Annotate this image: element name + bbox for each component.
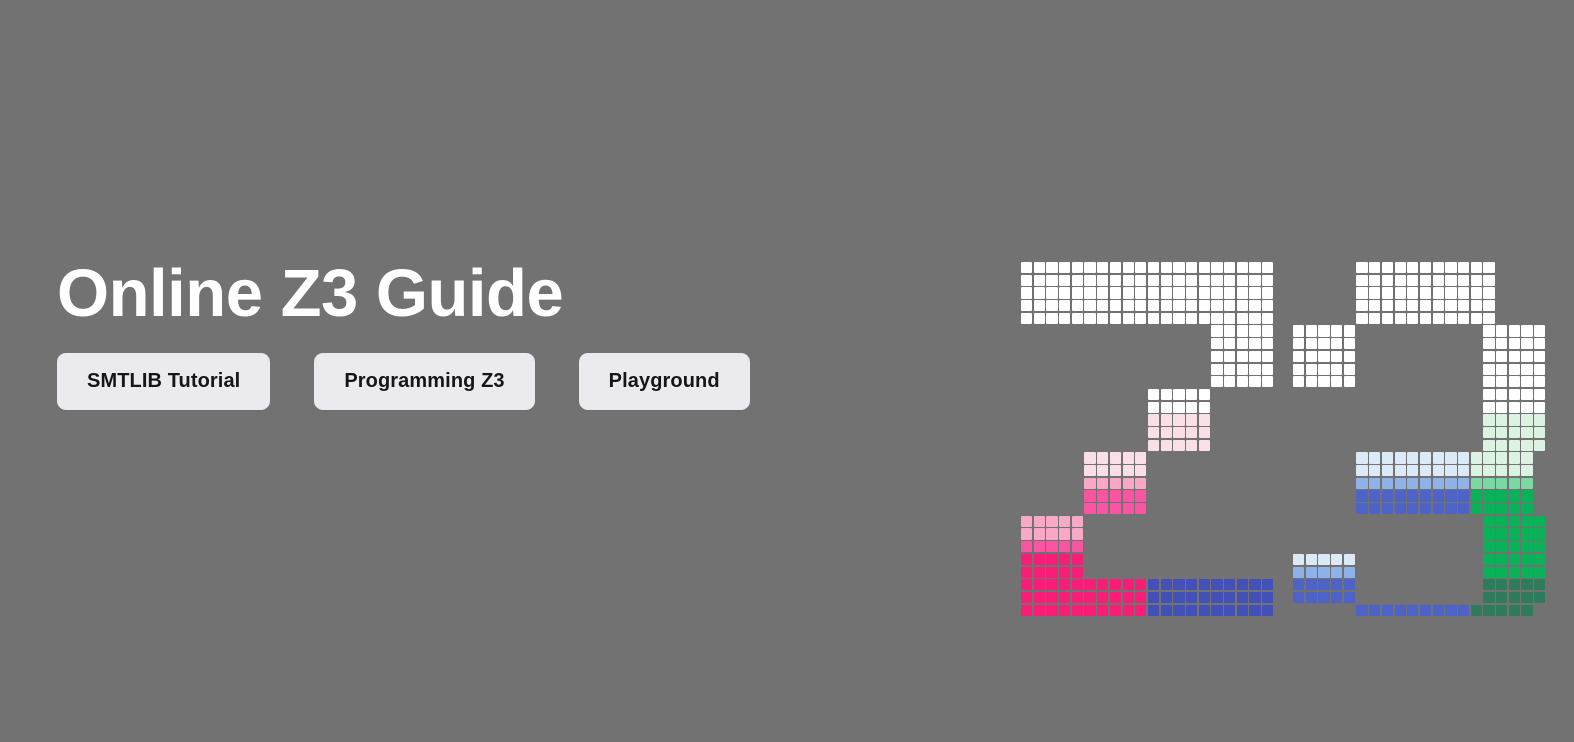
logo-pixel — [1072, 490, 1083, 501]
logo-pixel — [1262, 452, 1273, 463]
logo-pixel — [1496, 592, 1507, 603]
logo-pixel — [1306, 389, 1317, 400]
logo-pixel — [1433, 516, 1444, 527]
logo-pixel — [1224, 516, 1235, 527]
logo-pixel — [1534, 300, 1545, 311]
logo-pixel — [1237, 516, 1248, 527]
logo-pixel — [1344, 503, 1355, 514]
logo-pixel — [1237, 490, 1248, 501]
logo-pixel — [1237, 567, 1248, 578]
logo-pixel — [1407, 541, 1418, 552]
logo-pixel — [1420, 579, 1431, 590]
logo-pixel — [1509, 300, 1520, 311]
logo-pixel — [1306, 516, 1317, 527]
logo-pixel — [1344, 490, 1355, 501]
logo-pixel — [1161, 490, 1172, 501]
logo-pixel — [1483, 325, 1494, 336]
logo-pixel — [1445, 567, 1456, 578]
logo-pixel — [1509, 325, 1520, 336]
logo-pixel — [1407, 364, 1418, 375]
logo-pixel — [1084, 427, 1095, 438]
logo-pixel — [1097, 579, 1108, 590]
logo-pixel — [1224, 275, 1235, 286]
logo-pixel — [1458, 541, 1469, 552]
logo-pixel — [1395, 528, 1406, 539]
logo-pixel — [1034, 478, 1045, 489]
logo-pixel — [1097, 567, 1108, 578]
logo-pixel — [1211, 516, 1222, 527]
logo-pixel — [1199, 503, 1210, 514]
logo-pixel — [1369, 364, 1380, 375]
logo-pixel — [1161, 313, 1172, 324]
logo-pixel — [1161, 579, 1172, 590]
logo-pixel — [1521, 364, 1532, 375]
logo-pixel — [1318, 478, 1329, 489]
logo-pixel — [1521, 275, 1532, 286]
logo-pixel — [1293, 528, 1304, 539]
logo-pixel — [1211, 567, 1222, 578]
logo-pixel — [1344, 567, 1355, 578]
logo-pixel — [1084, 452, 1095, 463]
logo-pixel — [1123, 402, 1134, 413]
logo-pixel — [1369, 452, 1380, 463]
logo-pixel — [1224, 503, 1235, 514]
logo-pixel — [1306, 351, 1317, 362]
logo-pixel — [1496, 503, 1507, 514]
logo-pixel — [1509, 516, 1520, 527]
logo-pixel — [1382, 414, 1393, 425]
logo-pixel — [1034, 427, 1045, 438]
logo-pixel — [1199, 414, 1210, 425]
logo-pixel — [1034, 516, 1045, 527]
logo-pixel — [1369, 490, 1380, 501]
logo-pixel — [1211, 579, 1222, 590]
logo-pixel — [1173, 338, 1184, 349]
logo-pixel — [1445, 503, 1456, 514]
logo-pixel — [1237, 414, 1248, 425]
logo-pixel — [1097, 452, 1108, 463]
logo-pixel — [1509, 440, 1520, 451]
logo-pixel — [1084, 389, 1095, 400]
logo-pixel — [1034, 503, 1045, 514]
z3-pixel-logo — [1021, 262, 1521, 582]
logo-pixel — [1059, 313, 1070, 324]
logo-pixel — [1433, 325, 1444, 336]
logo-pixel — [1059, 351, 1070, 362]
logo-pixel — [1059, 338, 1070, 349]
logo-pixel — [1433, 452, 1444, 463]
logo-pixel — [1161, 414, 1172, 425]
logo-pixel — [1135, 579, 1146, 590]
playground-button[interactable]: Playground — [579, 353, 750, 410]
logo-pixel — [1395, 452, 1406, 463]
logo-pixel — [1331, 490, 1342, 501]
logo-pixel — [1458, 579, 1469, 590]
logo-pixel — [1382, 427, 1393, 438]
logo-pixel — [1173, 262, 1184, 273]
logo-pixel — [1420, 541, 1431, 552]
logo-pixel — [1059, 287, 1070, 298]
logo-pixel — [1382, 579, 1393, 590]
logo-pixel — [1420, 262, 1431, 273]
logo-pixel — [1135, 414, 1146, 425]
logo-pixel — [1199, 262, 1210, 273]
logo-pixel — [1123, 414, 1134, 425]
logo-pixel — [1262, 287, 1273, 298]
logo-pixel — [1407, 605, 1418, 616]
logo-pixel — [1433, 338, 1444, 349]
logo-pixel — [1097, 262, 1108, 273]
logo-pixel — [1458, 605, 1469, 616]
logo-pixel — [1534, 592, 1545, 603]
logo-pixel — [1072, 541, 1083, 552]
logo-pixel — [1262, 478, 1273, 489]
logo-pixel — [1186, 592, 1197, 603]
logo-pixel — [1110, 427, 1121, 438]
logo-pixel — [1395, 351, 1406, 362]
logo-pixel — [1496, 300, 1507, 311]
logo-pixel — [1021, 389, 1032, 400]
logo-pixel — [1046, 503, 1057, 514]
logo-pixel — [1344, 376, 1355, 387]
logo-pixel — [1407, 389, 1418, 400]
logo-pixel — [1224, 389, 1235, 400]
logo-pixel — [1433, 503, 1444, 514]
logo-pixel — [1237, 541, 1248, 552]
logo-pixel — [1534, 262, 1545, 273]
logo-pixel — [1211, 465, 1222, 476]
logo-pixel — [1318, 402, 1329, 413]
logo-pixel — [1072, 503, 1083, 514]
logo-pixel — [1382, 490, 1393, 501]
logo-pixel — [1110, 313, 1121, 324]
logo-pixel — [1135, 300, 1146, 311]
logo-pixel — [1224, 427, 1235, 438]
logo-pixel — [1509, 490, 1520, 501]
logo-pixel — [1521, 452, 1532, 463]
logo-pixel — [1262, 275, 1273, 286]
logo-pixel — [1318, 414, 1329, 425]
logo-pixel — [1445, 528, 1456, 539]
logo-pixel — [1161, 452, 1172, 463]
logo-pixel — [1356, 440, 1367, 451]
logo-pixel — [1521, 541, 1532, 552]
logo-pixel — [1021, 503, 1032, 514]
logo-pixel — [1293, 503, 1304, 514]
logo-pixel — [1521, 554, 1532, 565]
logo-pixel — [1420, 275, 1431, 286]
logo-pixel — [1148, 567, 1159, 578]
logo-pixel — [1173, 275, 1184, 286]
logo-pixel — [1135, 592, 1146, 603]
logo-pixel — [1458, 338, 1469, 349]
smtlib-tutorial-button[interactable]: SMTLIB Tutorial — [57, 353, 270, 410]
logo-pixel — [1148, 313, 1159, 324]
logo-pixel — [1318, 351, 1329, 362]
logo-pixel — [1445, 465, 1456, 476]
logo-pixel — [1306, 541, 1317, 552]
logo-pixel — [1249, 605, 1260, 616]
logo-pixel — [1034, 325, 1045, 336]
logo-pixel — [1521, 567, 1532, 578]
logo-pixel — [1097, 300, 1108, 311]
logo-pixel — [1318, 325, 1329, 336]
logo-pixel — [1318, 452, 1329, 463]
logo-pixel — [1521, 427, 1532, 438]
logo-pixel — [1496, 389, 1507, 400]
logo-pixel — [1395, 478, 1406, 489]
logo-pixel — [1318, 605, 1329, 616]
logo-pixel — [1034, 262, 1045, 273]
logo-pixel — [1395, 325, 1406, 336]
logo-pixel — [1249, 287, 1260, 298]
logo-pixel — [1186, 402, 1197, 413]
logo-pixel — [1407, 402, 1418, 413]
logo-pixel — [1084, 364, 1095, 375]
logo-pixel — [1059, 541, 1070, 552]
logo-pixel — [1046, 567, 1057, 578]
logo-pixel — [1249, 490, 1260, 501]
logo-pixel — [1318, 440, 1329, 451]
logo-pixel — [1306, 605, 1317, 616]
logo-pixel — [1072, 516, 1083, 527]
logo-pixel — [1471, 490, 1482, 501]
logo-pixel — [1148, 579, 1159, 590]
logo-pixel — [1331, 300, 1342, 311]
logo-pixel — [1534, 275, 1545, 286]
logo-pixel — [1059, 402, 1070, 413]
logo-pixel — [1084, 579, 1095, 590]
logo-pixel — [1249, 541, 1260, 552]
logo-pixel — [1534, 452, 1545, 463]
logo-pixel — [1369, 427, 1380, 438]
logo-pixel — [1046, 376, 1057, 387]
logo-pixel — [1072, 402, 1083, 413]
logo-pixel — [1186, 287, 1197, 298]
logo-pixel — [1097, 351, 1108, 362]
logo-pixel — [1471, 567, 1482, 578]
logo-pixel — [1224, 440, 1235, 451]
logo-pixel — [1433, 567, 1444, 578]
logo-pixel — [1199, 605, 1210, 616]
logo-pixel — [1262, 516, 1273, 527]
logo-pixel — [1072, 452, 1083, 463]
logo-pixel — [1407, 478, 1418, 489]
logo-pixel — [1471, 300, 1482, 311]
logo-pixel — [1344, 402, 1355, 413]
logo-pixel — [1059, 528, 1070, 539]
logo-pixel — [1293, 287, 1304, 298]
logo-pixel — [1420, 592, 1431, 603]
logo-pixel — [1420, 389, 1431, 400]
logo-pixel — [1237, 579, 1248, 590]
logo-pixel — [1123, 364, 1134, 375]
logo-pixel — [1420, 554, 1431, 565]
logo-pixel — [1224, 402, 1235, 413]
logo-pixel — [1521, 262, 1532, 273]
logo-pixel — [1110, 579, 1121, 590]
logo-pixel — [1059, 389, 1070, 400]
logo-pixel — [1249, 364, 1260, 375]
logo-pixel — [1356, 338, 1367, 349]
logo-pixel — [1034, 567, 1045, 578]
logo-pixel — [1046, 364, 1057, 375]
logo-pixel — [1356, 605, 1367, 616]
logo-pixel — [1059, 300, 1070, 311]
logo-pixel — [1034, 376, 1045, 387]
logo-pixel — [1445, 579, 1456, 590]
logo-pixel — [1097, 528, 1108, 539]
logo-pixel — [1021, 402, 1032, 413]
logo-pixel — [1382, 389, 1393, 400]
logo-pixel — [1211, 414, 1222, 425]
logo-pixel — [1395, 402, 1406, 413]
logo-pixel — [1445, 262, 1456, 273]
logo-pixel — [1344, 427, 1355, 438]
logo-pixel — [1135, 287, 1146, 298]
logo-pixel — [1059, 592, 1070, 603]
logo-pixel — [1471, 275, 1482, 286]
logo-pixel — [1211, 262, 1222, 273]
logo-pixel — [1471, 313, 1482, 324]
logo-pixel — [1224, 490, 1235, 501]
logo-pixel — [1521, 414, 1532, 425]
logo-pixel — [1224, 541, 1235, 552]
logo-pixel — [1445, 516, 1456, 527]
logo-pixel — [1331, 376, 1342, 387]
logo-pixel — [1433, 414, 1444, 425]
logo-pixel — [1433, 300, 1444, 311]
logo-pixel — [1369, 262, 1380, 273]
logo-pixel — [1534, 567, 1545, 578]
logo-pixel — [1344, 605, 1355, 616]
logo-pixel — [1356, 287, 1367, 298]
logo-pixel — [1034, 287, 1045, 298]
logo-pixel — [1161, 376, 1172, 387]
logo-pixel — [1433, 478, 1444, 489]
logo-pixel — [1224, 262, 1235, 273]
programming-z3-button[interactable]: Programming Z3 — [314, 353, 534, 410]
logo-pixel — [1356, 427, 1367, 438]
logo-pixel — [1534, 313, 1545, 324]
logo-pixel — [1344, 516, 1355, 527]
logo-pixel — [1356, 592, 1367, 603]
logo-pixel — [1148, 503, 1159, 514]
logo-pixel — [1382, 402, 1393, 413]
logo-pixel — [1046, 490, 1057, 501]
logo-pixel — [1344, 300, 1355, 311]
logo-pixel — [1445, 427, 1456, 438]
logo-pixel — [1382, 541, 1393, 552]
logo-pixel — [1237, 364, 1248, 375]
logo-pixel — [1420, 325, 1431, 336]
logo-pixel — [1433, 541, 1444, 552]
logo-pixel — [1262, 579, 1273, 590]
logo-pixel — [1420, 490, 1431, 501]
logo-pixel — [1161, 541, 1172, 552]
logo-pixel — [1331, 414, 1342, 425]
logo-pixel — [1471, 414, 1482, 425]
logo-pixel — [1034, 414, 1045, 425]
logo-pixel — [1509, 338, 1520, 349]
logo-pixel — [1395, 592, 1406, 603]
logo-pixel — [1123, 338, 1134, 349]
logo-pixel — [1186, 364, 1197, 375]
logo-pixel — [1110, 592, 1121, 603]
logo-pixel — [1046, 402, 1057, 413]
logo-pixel — [1173, 605, 1184, 616]
logo-pixel — [1509, 414, 1520, 425]
logo-pixel — [1021, 516, 1032, 527]
logo-pixel — [1148, 300, 1159, 311]
logo-pixel — [1123, 516, 1134, 527]
logo-pixel — [1318, 389, 1329, 400]
logo-pixel — [1097, 490, 1108, 501]
logo-pixel — [1072, 389, 1083, 400]
logo-pixel — [1534, 440, 1545, 451]
logo-pixel — [1483, 592, 1494, 603]
logo-pixel — [1199, 402, 1210, 413]
logo-pixel — [1237, 300, 1248, 311]
logo-pixel — [1046, 287, 1057, 298]
logo-pixel — [1059, 440, 1070, 451]
logo-pixel — [1521, 402, 1532, 413]
logo-pixel — [1173, 452, 1184, 463]
logo-pixel — [1224, 414, 1235, 425]
logo-pixel — [1356, 402, 1367, 413]
logo-pixel — [1097, 516, 1108, 527]
logo-pixel — [1521, 300, 1532, 311]
logo-pixel — [1420, 528, 1431, 539]
logo-pixel — [1306, 503, 1317, 514]
logo-pixel — [1199, 579, 1210, 590]
logo-pixel — [1445, 592, 1456, 603]
logo-pixel — [1110, 364, 1121, 375]
logo-pixel — [1306, 313, 1317, 324]
logo-pixel — [1161, 567, 1172, 578]
logo-pixel — [1382, 605, 1393, 616]
logo-pixel — [1123, 275, 1134, 286]
logo-pixel — [1331, 325, 1342, 336]
logo-pixel — [1135, 516, 1146, 527]
logo-pixel — [1483, 465, 1494, 476]
logo-pixel — [1123, 452, 1134, 463]
hero-button-row: SMTLIB Tutorial Programming Z3 Playgroun… — [57, 353, 977, 410]
logo-pixel — [1186, 490, 1197, 501]
logo-pixel — [1034, 313, 1045, 324]
logo-pixel — [1135, 262, 1146, 273]
logo-pixel — [1097, 287, 1108, 298]
logo-pixel — [1471, 516, 1482, 527]
logo-pixel — [1496, 402, 1507, 413]
logo-pixel — [1249, 313, 1260, 324]
logo-pixel — [1211, 490, 1222, 501]
logo-pixel — [1382, 325, 1393, 336]
logo-pixel — [1407, 414, 1418, 425]
logo-pixel — [1458, 262, 1469, 273]
logo-pixel — [1249, 516, 1260, 527]
logo-pixel — [1369, 338, 1380, 349]
logo-pixel — [1483, 287, 1494, 298]
logo-pixel — [1458, 592, 1469, 603]
logo-pixel — [1262, 605, 1273, 616]
logo-pixel — [1148, 541, 1159, 552]
logo-pixel — [1331, 389, 1342, 400]
logo-pixel — [1046, 554, 1057, 565]
logo-pixel — [1483, 605, 1494, 616]
logo-pixel — [1186, 452, 1197, 463]
logo-pixel — [1072, 351, 1083, 362]
